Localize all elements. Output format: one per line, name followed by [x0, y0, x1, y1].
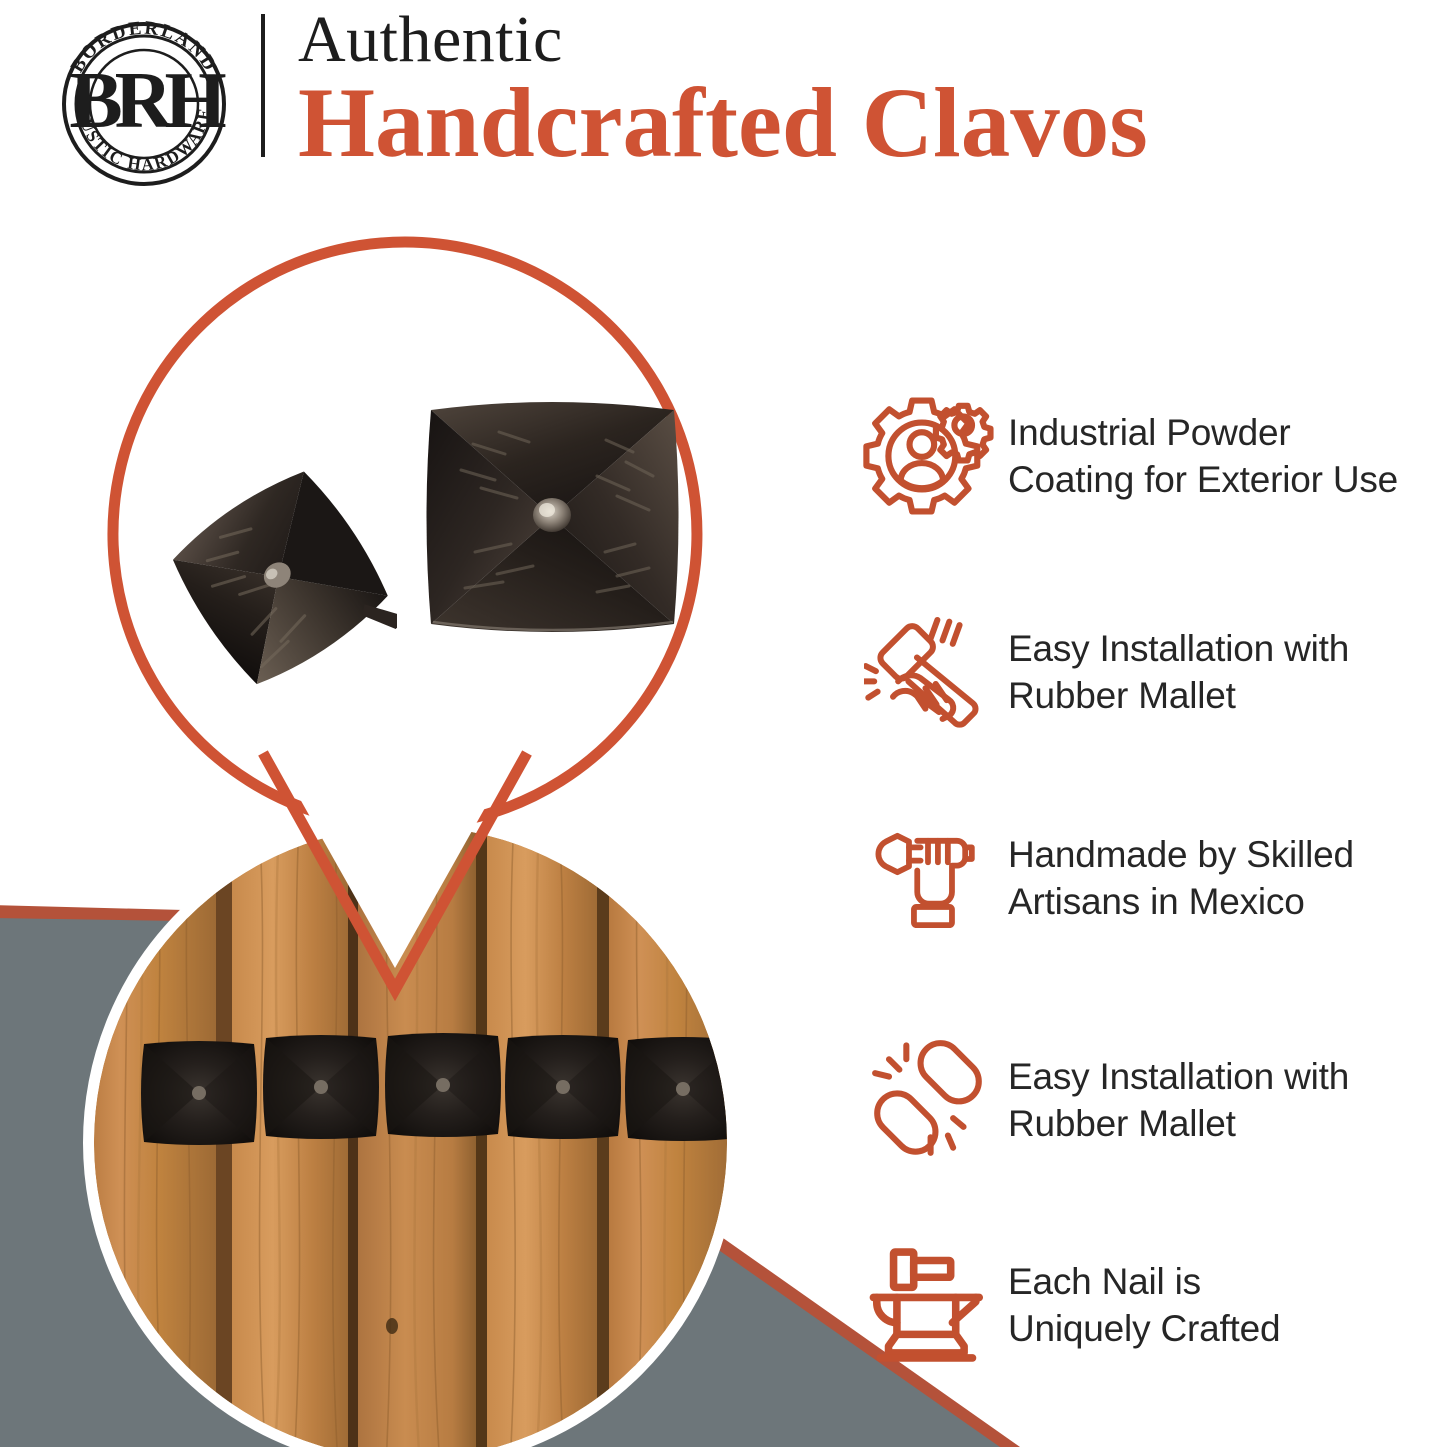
fist-wrench-icon — [848, 816, 1008, 940]
feature-item-handmade: Handmade by Skilled Artisans in Mexico — [848, 816, 1445, 940]
feature-line-2: Coating for Exterior Use — [1008, 456, 1398, 503]
eyebrow-text: Authentic — [298, 4, 1156, 76]
chain-link-icon — [848, 1035, 1008, 1165]
clavo-square-product — [421, 392, 684, 642]
feature-label: Handmade by Skilled Artisans in Mexico — [1008, 831, 1354, 925]
feature-label: Industrial Powder Coating for Exterior U… — [1008, 409, 1398, 503]
title-block: Authentic Handcrafted Clavos — [298, 4, 1156, 174]
feature-line-1: Easy Installation with — [1008, 625, 1349, 672]
feature-line-2: Uniquely Crafted — [1008, 1305, 1280, 1352]
feature-line-2: Rubber Mallet — [1008, 672, 1349, 719]
brand-logo: BORDERLAND RUSTIC HARDWARE BRH — [52, 12, 237, 187]
feature-item-easy-installation-1: Easy Installation with Rubber Mallet — [848, 608, 1445, 736]
feature-label: Easy Installation with Rubber Mallet — [1008, 1053, 1349, 1147]
feature-item-unique-crafted: Each Nail is Uniquely Crafted — [848, 1242, 1445, 1368]
feature-line-2: Rubber Mallet — [1008, 1100, 1349, 1147]
anvil-hammer-icon — [848, 1242, 1008, 1368]
feature-line-2: Artisans in Mexico — [1008, 878, 1354, 925]
header: BORDERLAND RUSTIC HARDWARE BRH Authentic… — [0, 0, 1445, 200]
feature-line-1: Industrial Powder — [1008, 409, 1398, 456]
feature-line-1: Each Nail is — [1008, 1258, 1280, 1305]
clavo-angled-product — [172, 440, 397, 730]
feature-label: Each Nail is Uniquely Crafted — [1008, 1258, 1280, 1352]
infographic-canvas: BORDERLAND RUSTIC HARDWARE BRH Authentic… — [0, 0, 1445, 1447]
feature-line-1: Easy Installation with — [1008, 1053, 1349, 1100]
header-divider — [261, 14, 265, 157]
page-title: Handcrafted Clavos — [298, 72, 1148, 174]
product-visuals — [0, 200, 800, 1447]
clavo-row — [141, 1033, 727, 1145]
feature-item-easy-installation-2: Easy Installation with Rubber Mallet — [848, 1035, 1445, 1165]
feature-item-powder-coating: Industrial Powder Coating for Exterior U… — [848, 390, 1445, 522]
hand-mallet-icon — [848, 608, 1008, 736]
logo-monogram: BRH — [69, 57, 225, 145]
feature-line-1: Handmade by Skilled — [1008, 831, 1354, 878]
feature-label: Easy Installation with Rubber Mallet — [1008, 625, 1349, 719]
gear-person-icon — [848, 390, 1008, 522]
